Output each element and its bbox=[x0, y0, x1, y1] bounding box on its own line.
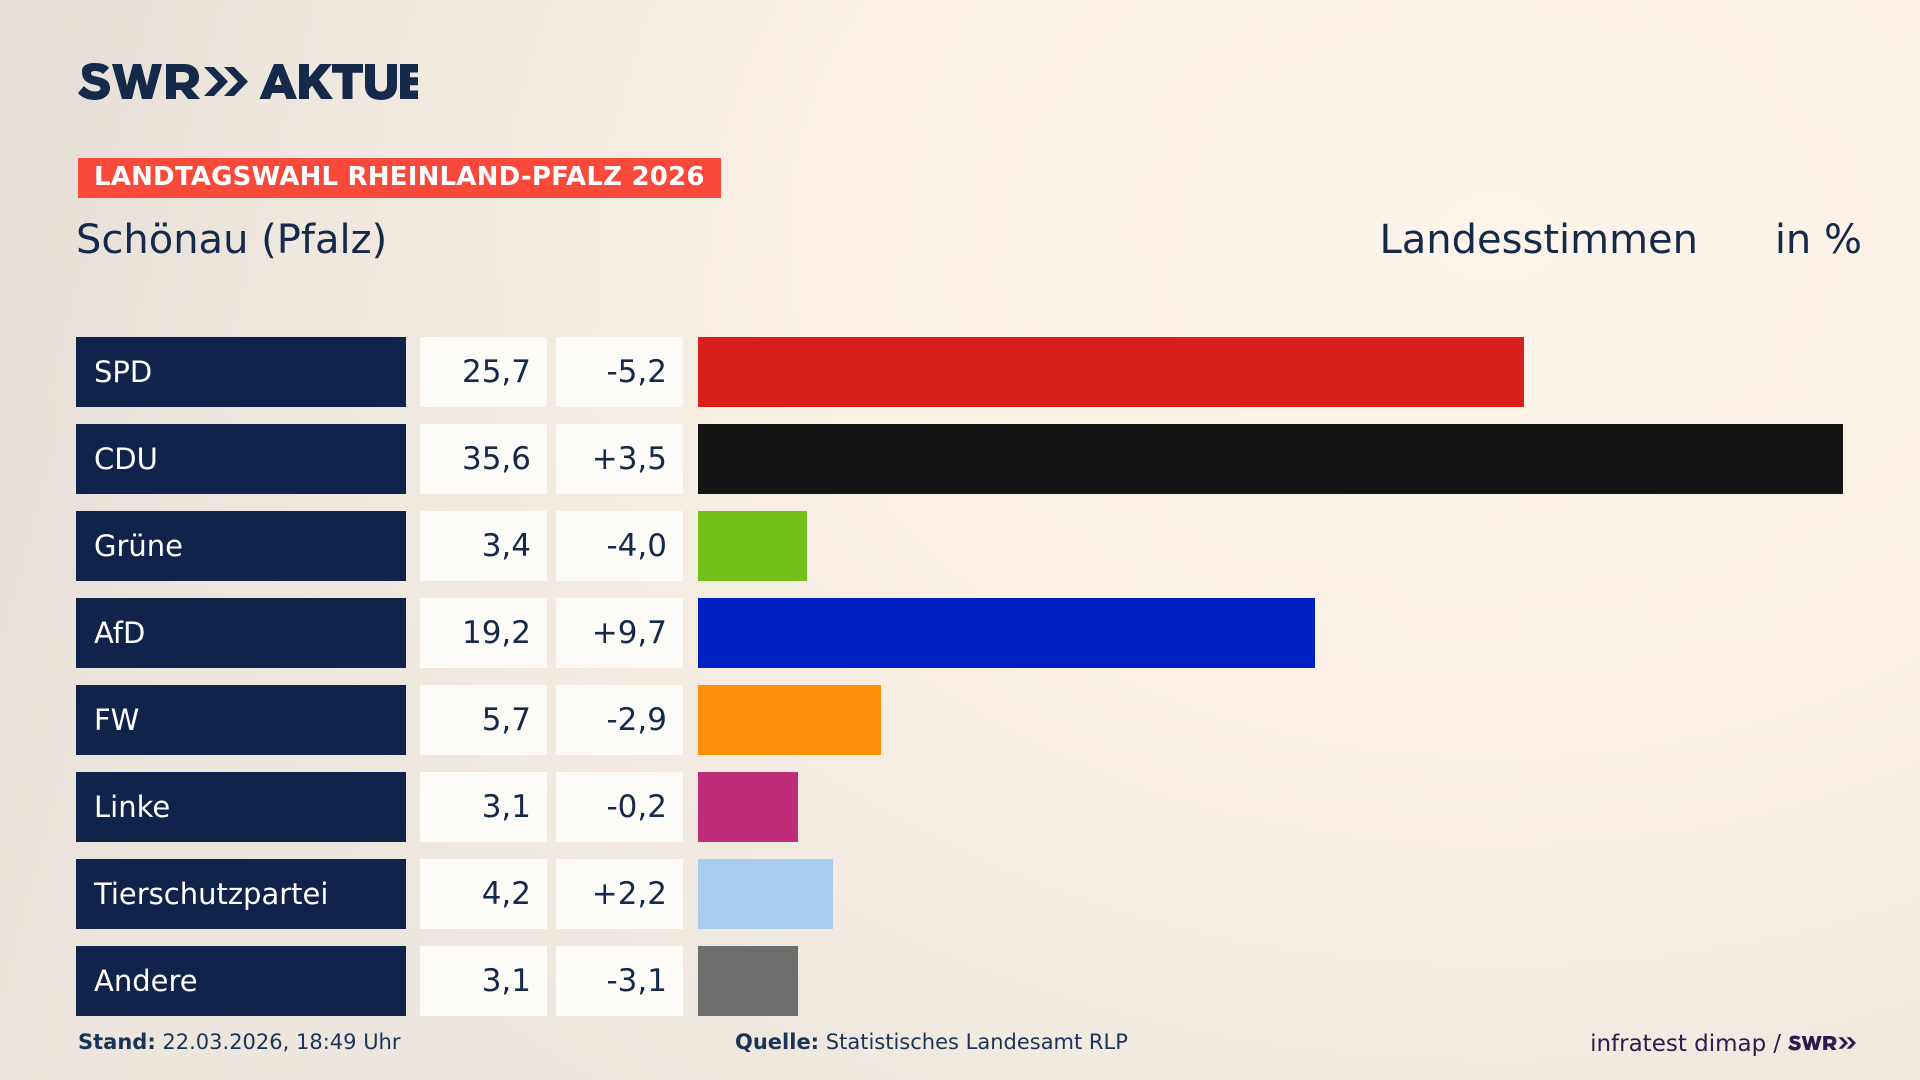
value-text: 4,2 bbox=[482, 879, 547, 910]
party-cell-gruene[interactable]: Grüne bbox=[76, 511, 406, 581]
bar-afd bbox=[698, 598, 1315, 668]
vote-type-label: Landesstimmen bbox=[1379, 220, 1698, 260]
value-cell-tierschutzpartei: 4,2 bbox=[420, 859, 547, 929]
timestamp-value: 22.03.2026, 18:49 Uhr bbox=[162, 1030, 400, 1054]
party-label: Linke bbox=[76, 793, 170, 822]
bar-fw bbox=[698, 685, 881, 755]
value-cell-andere: 3,1 bbox=[420, 946, 547, 1016]
change-text: -4,0 bbox=[607, 531, 684, 562]
change-text: -5,2 bbox=[607, 357, 684, 388]
party-label: SPD bbox=[76, 358, 152, 387]
bar-spd bbox=[698, 337, 1524, 407]
change-text: +3,5 bbox=[592, 444, 683, 475]
timestamp: Stand: 22.03.2026, 18:49 Uhr bbox=[78, 1032, 401, 1053]
value-text: 35,6 bbox=[462, 444, 547, 475]
value-text: 19,2 bbox=[462, 618, 547, 649]
party-cell-tierschutzpartei[interactable]: Tierschutzpartei bbox=[76, 859, 406, 929]
change-cell-gruene: -4,0 bbox=[556, 511, 683, 581]
party-label: Andere bbox=[76, 967, 198, 996]
table-row: SPD 25,7 -5,2 bbox=[0, 337, 1920, 407]
credit-pollster: infratest dimap bbox=[1590, 1033, 1766, 1056]
credit-separator: / bbox=[1773, 1033, 1781, 1056]
bar-gruene bbox=[698, 511, 807, 581]
value-text: 5,7 bbox=[482, 705, 547, 736]
value-cell-linke: 3,1 bbox=[420, 772, 547, 842]
election-kicker-badge: LANDTAGSWAHL RHEINLAND-PFALZ 2026 bbox=[78, 158, 721, 198]
value-text: 3,1 bbox=[482, 792, 547, 823]
table-row: CDU 35,6 +3,5 bbox=[0, 424, 1920, 494]
swr-aktuell-logo-icon bbox=[78, 62, 418, 106]
source-note: Quelle: Statistisches Landesamt RLP bbox=[735, 1032, 1128, 1053]
change-cell-tierschutzpartei: +2,2 bbox=[556, 859, 683, 929]
party-cell-fw[interactable]: FW bbox=[76, 685, 406, 755]
change-cell-spd: -5,2 bbox=[556, 337, 683, 407]
timestamp-label: Stand: bbox=[78, 1030, 156, 1054]
value-text: 3,1 bbox=[482, 966, 547, 997]
value-text: 25,7 bbox=[462, 357, 547, 388]
change-cell-andere: -3,1 bbox=[556, 946, 683, 1016]
change-text: -2,9 bbox=[607, 705, 684, 736]
infographic-page: LANDTAGSWAHL RHEINLAND-PFALZ 2026 Schöna… bbox=[0, 0, 1920, 1080]
credit: infratest dimap / bbox=[1590, 1032, 1864, 1056]
change-cell-linke: -0,2 bbox=[556, 772, 683, 842]
table-row: FW 5,7 -2,9 bbox=[0, 685, 1920, 755]
unit-label: in % bbox=[1775, 220, 1862, 260]
bar-tierschutzpartei bbox=[698, 859, 833, 929]
party-label: CDU bbox=[76, 445, 158, 474]
change-text: +2,2 bbox=[592, 879, 683, 910]
value-cell-spd: 25,7 bbox=[420, 337, 547, 407]
bar-cdu bbox=[698, 424, 1843, 494]
value-cell-afd: 19,2 bbox=[420, 598, 547, 668]
change-text: -0,2 bbox=[607, 792, 684, 823]
bar-linke bbox=[698, 772, 798, 842]
party-label: AfD bbox=[76, 619, 145, 648]
swr-footer-logo-icon bbox=[1788, 1032, 1864, 1056]
bar-andere bbox=[698, 946, 798, 1016]
table-row: Tierschutzpartei 4,2 +2,2 bbox=[0, 859, 1920, 929]
page-title: Schönau (Pfalz) bbox=[76, 220, 387, 260]
party-label: FW bbox=[76, 706, 139, 735]
value-text: 3,4 bbox=[482, 531, 547, 562]
value-cell-cdu: 35,6 bbox=[420, 424, 547, 494]
change-text: +9,7 bbox=[592, 618, 683, 649]
value-cell-fw: 5,7 bbox=[420, 685, 547, 755]
change-cell-cdu: +3,5 bbox=[556, 424, 683, 494]
value-cell-gruene: 3,4 bbox=[420, 511, 547, 581]
source-value: Statistisches Landesamt RLP bbox=[826, 1030, 1128, 1054]
change-cell-afd: +9,7 bbox=[556, 598, 683, 668]
change-text: -3,1 bbox=[607, 966, 684, 997]
party-cell-linke[interactable]: Linke bbox=[76, 772, 406, 842]
source-label: Quelle: bbox=[735, 1030, 819, 1054]
table-row: Linke 3,1 -0,2 bbox=[0, 772, 1920, 842]
table-row: Andere 3,1 -3,1 bbox=[0, 946, 1920, 1016]
party-cell-cdu[interactable]: CDU bbox=[76, 424, 406, 494]
party-cell-afd[interactable]: AfD bbox=[76, 598, 406, 668]
change-cell-fw: -2,9 bbox=[556, 685, 683, 755]
swr-aktuell-logo bbox=[78, 62, 418, 106]
table-row: Grüne 3,4 -4,0 bbox=[0, 511, 1920, 581]
party-cell-spd[interactable]: SPD bbox=[76, 337, 406, 407]
table-row: AfD 19,2 +9,7 bbox=[0, 598, 1920, 668]
party-cell-andere[interactable]: Andere bbox=[76, 946, 406, 1016]
party-label: Grüne bbox=[76, 532, 183, 561]
party-label: Tierschutzpartei bbox=[76, 880, 328, 909]
results-table: SPD 25,7 -5,2 CDU 35,6 +3,5 Grün bbox=[0, 337, 1920, 1033]
